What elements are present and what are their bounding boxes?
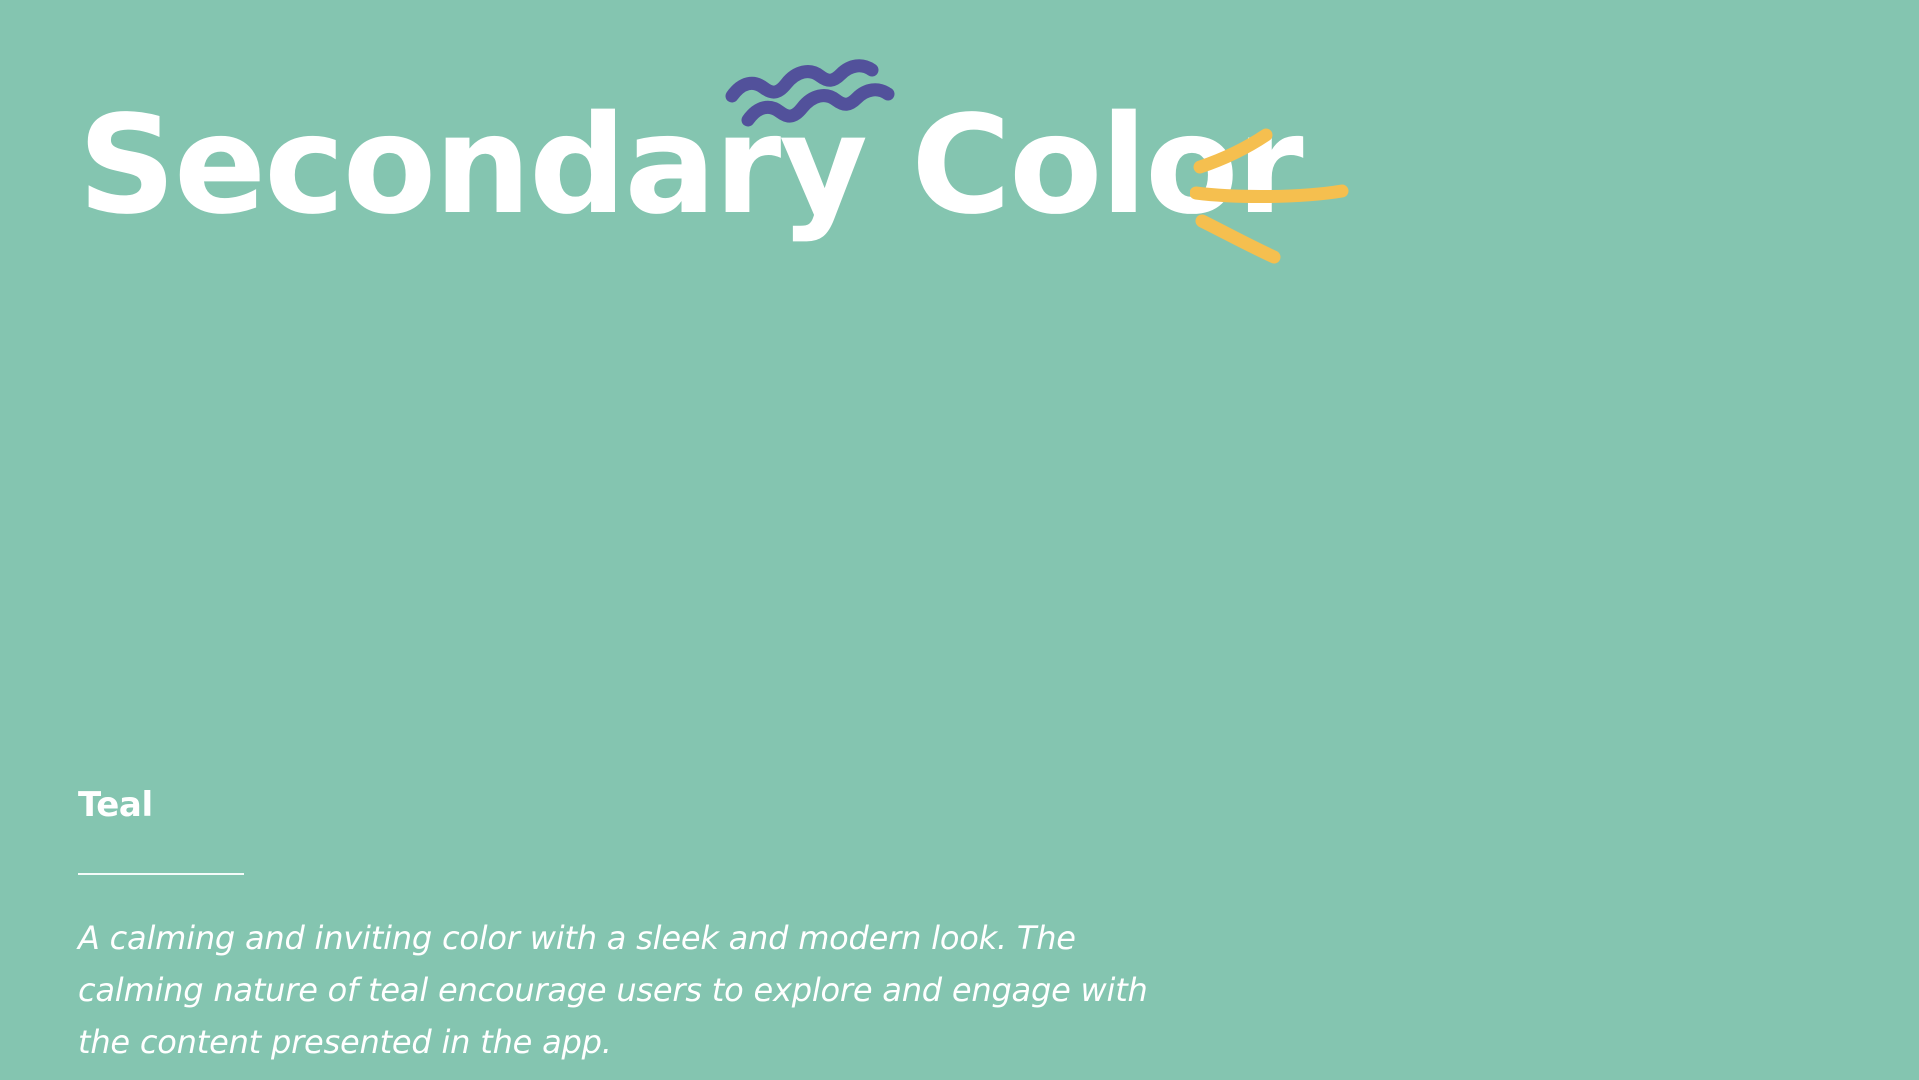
page-title: Secondary Color xyxy=(78,98,1278,234)
caption-block: Teal A calming and inviting color with a… xyxy=(78,786,1478,1069)
color-name-heading: Teal xyxy=(78,786,1478,825)
headline-block: Secondary Color xyxy=(78,98,1278,258)
color-description-text: A calming and inviting color with a slee… xyxy=(78,913,1198,1068)
slide-canvas: Secondary Color Teal A calming and invit… xyxy=(0,0,1919,1080)
divider-rule xyxy=(78,873,244,875)
